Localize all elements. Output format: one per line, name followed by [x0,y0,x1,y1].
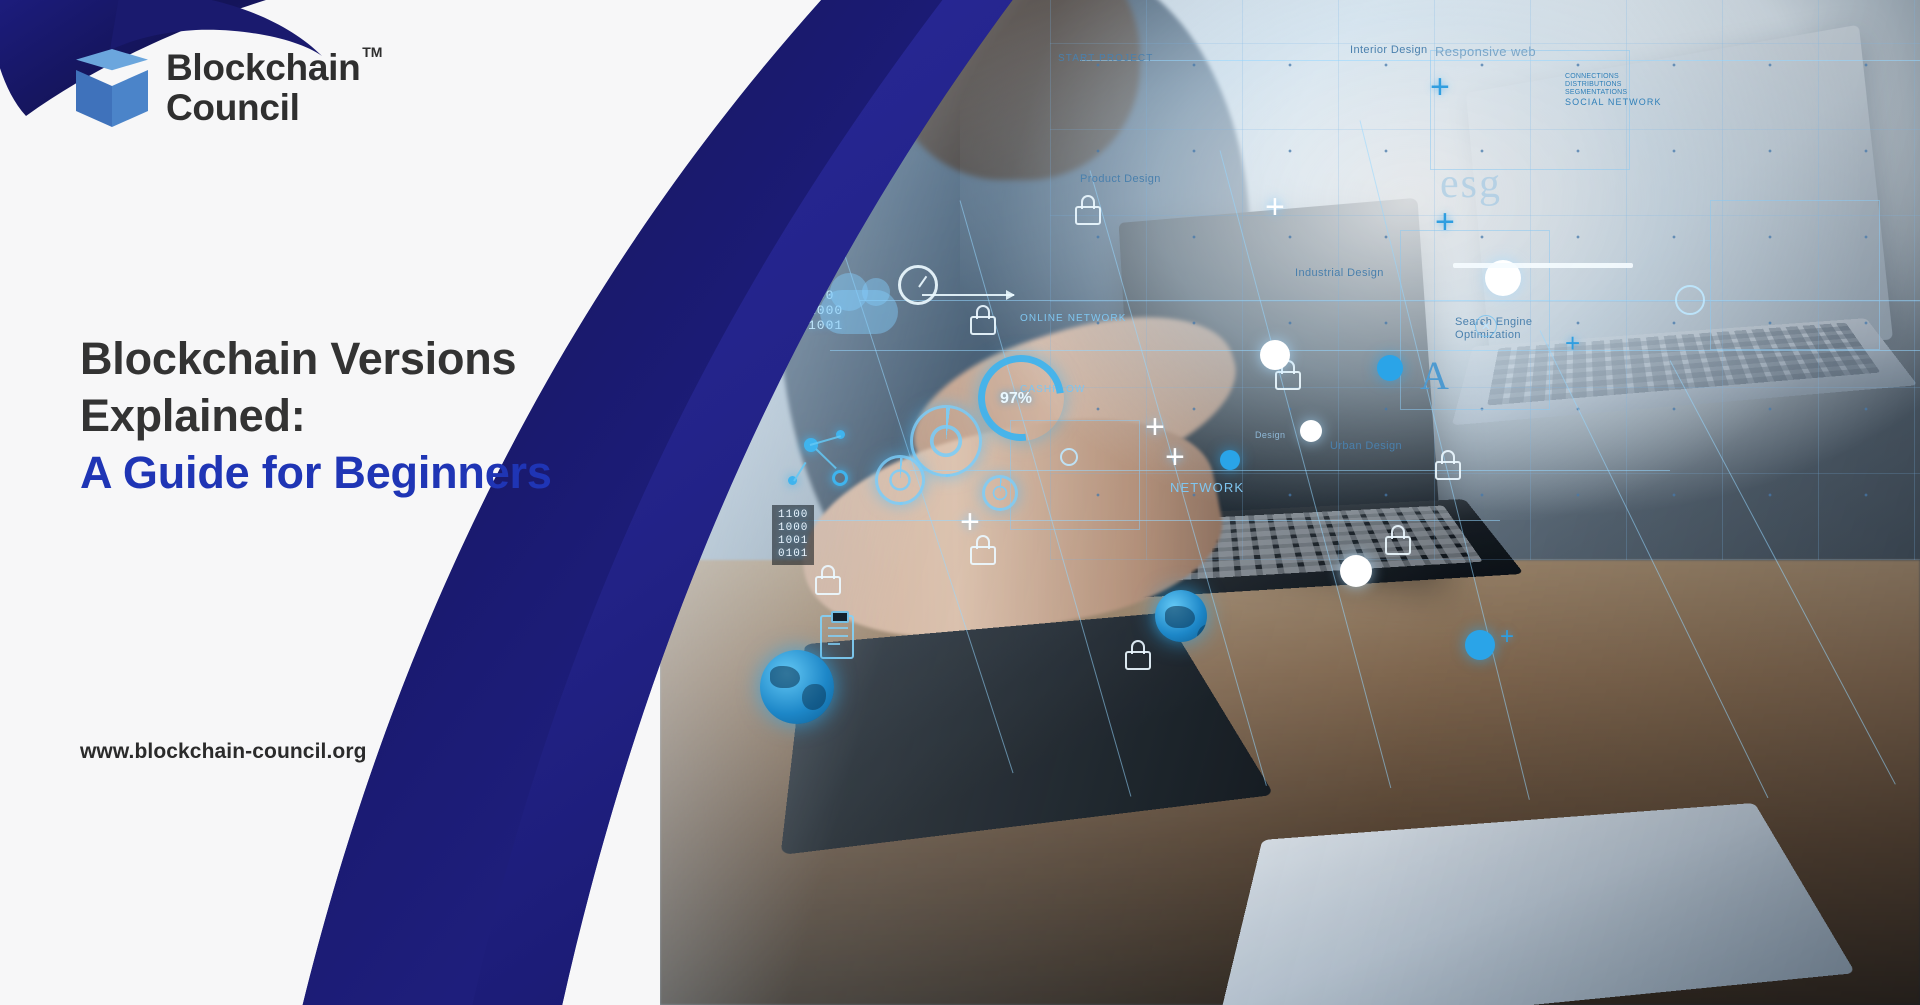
blockchain-cube-icon [76,49,148,127]
trademark-symbol: TM [362,44,382,60]
cube-left-face [76,70,112,127]
brand-wordmark: Blockchain Council TM [166,48,360,128]
photo-color-grade [660,0,1920,1005]
headline-line-2: Explained: [80,387,720,444]
brand-name-line1: Blockchain [166,48,360,88]
brand-name-line2: Council [166,88,360,128]
brand-logo[interactable]: Blockchain Council TM [76,48,360,128]
hero-photo: START PROJECT Product Design Interior De… [660,0,1920,1005]
page-title: Blockchain Versions Explained: A Guide f… [80,330,720,501]
headline-line-1: Blockchain Versions [80,330,720,387]
cube-right-face [112,70,148,127]
headline-line-3: A Guide for Beginners [80,444,720,501]
website-url[interactable]: www.blockchain-council.org [80,740,367,764]
blog-banner: START PROJECT Product Design Interior De… [0,0,1920,1005]
left-content-pane: Blockchain Council TM Blockchain Version… [0,0,760,1005]
